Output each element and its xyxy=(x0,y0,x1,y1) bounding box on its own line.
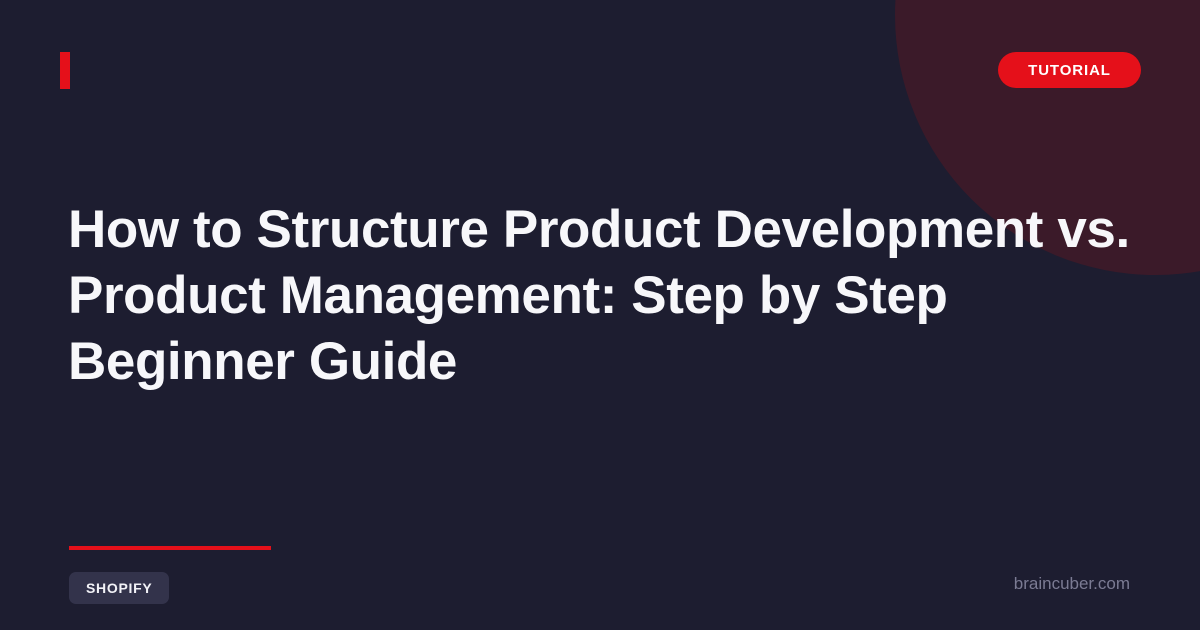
status-badge-label: TUTORIAL xyxy=(1028,63,1111,78)
social-share-card: TUTORIAL How to Structure Product Develo… xyxy=(0,0,1200,630)
site-watermark: braincuber.com xyxy=(1014,574,1130,594)
red-divider-rule xyxy=(69,546,271,550)
category-chip-label: SHOPIFY xyxy=(86,581,152,595)
category-chip[interactable]: SHOPIFY xyxy=(69,572,169,604)
red-accent-bar xyxy=(60,52,70,89)
page-title: How to Structure Product Development vs.… xyxy=(68,197,1148,395)
status-badge: TUTORIAL xyxy=(998,52,1141,88)
